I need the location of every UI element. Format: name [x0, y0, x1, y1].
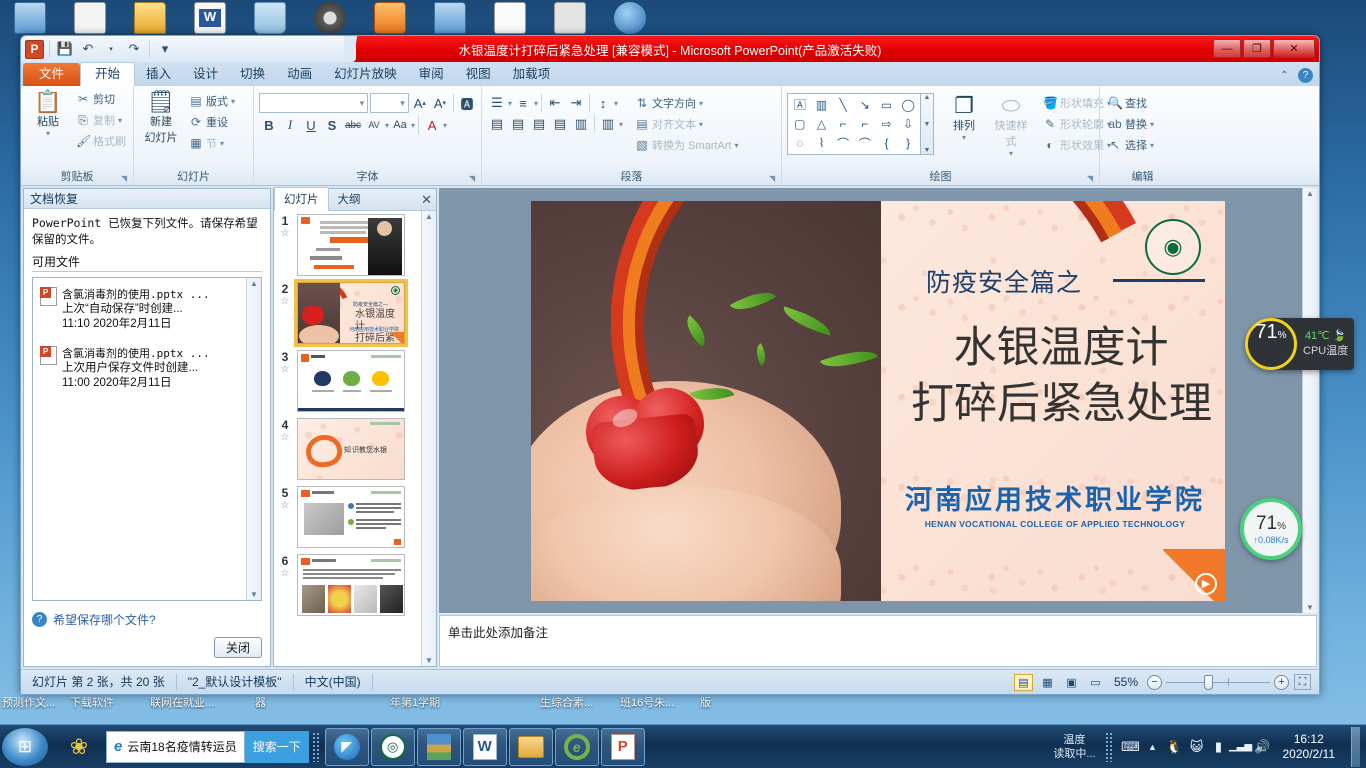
subtitle-rule — [1113, 279, 1205, 282]
scroll-down-icon[interactable]: ▼ — [425, 656, 433, 665]
zoom-out-button[interactable]: − — [1147, 675, 1162, 690]
slide-thumbnail[interactable] — [297, 554, 405, 616]
recovery-filename: 含氯消毒剂的使用.pptx — [62, 347, 183, 360]
zoom-slider[interactable]: − + — [1147, 675, 1289, 690]
tab-review[interactable]: 审阅 — [408, 63, 455, 86]
tab-design[interactable]: 设计 — [182, 63, 229, 86]
clock-date: 2020/2/11 — [1283, 747, 1336, 762]
scroll-down-icon[interactable]: ▼ — [1306, 603, 1314, 612]
tab-view[interactable]: 视图 — [455, 63, 502, 86]
group-label-slides: 幻灯片 — [134, 168, 253, 184]
title-bar: P 💾 ↶ ▾ ↷ ▾ 水银温度计打碎后紧急处理 [兼容模式] - Micros… — [21, 36, 1319, 62]
slides-pane: 幻灯片 大纲 ✕ 1☆ — [273, 188, 437, 667]
find-button[interactable]: 🔍查找 — [1105, 93, 1157, 113]
star-icon[interactable]: ☆ — [276, 432, 294, 443]
character-spacing-button[interactable]: AV — [364, 115, 384, 135]
recovery-description: 上次用户保存文件时创建... — [62, 361, 210, 376]
show-hidden-icons-icon[interactable]: ▲ — [1145, 739, 1161, 755]
scroll-up-icon[interactable]: ▲ — [425, 212, 433, 221]
tab-transitions[interactable]: 切换 — [229, 63, 276, 86]
overflow-ellipsis: ... — [190, 347, 210, 360]
tray-temp-label: 温度 — [1053, 733, 1095, 747]
paragraph-dialog-launcher-icon[interactable]: ◥ — [769, 174, 778, 183]
shape-right-brace-icon[interactable]: } — [897, 134, 919, 153]
chevron-down-icon[interactable]: ▾ — [508, 99, 512, 108]
slide-subtitle[interactable]: 防疫安全篇之 — [926, 263, 1082, 299]
desktop-icon-text-file[interactable] — [480, 0, 540, 40]
shape-arc-icon[interactable]: ⌒ — [854, 134, 876, 153]
increase-indent-icon[interactable]: ⇥ — [566, 93, 586, 113]
tray-temp-status: 读取中... — [1053, 747, 1095, 761]
slide-canvas[interactable]: 防疫安全篇之 水银温度计 打碎后紧急处理 ◉ 河南应用技术职业学院 HENAN … — [531, 201, 1225, 601]
align-center-icon[interactable]: ▤ — [508, 114, 528, 134]
font-name-input[interactable]: ▾ — [259, 93, 368, 113]
scissors-icon: ✂ — [76, 92, 90, 106]
tab-animations[interactable]: 动画 — [276, 63, 323, 86]
desktop-icon-media-player[interactable] — [600, 0, 660, 40]
status-theme[interactable]: "2_默认设计模板" — [177, 674, 294, 690]
group-label-drawing: 绘图 — [782, 168, 1099, 184]
desktop-icon-app-orange[interactable] — [360, 0, 420, 40]
italic-button[interactable]: I — [280, 115, 300, 135]
divider — [32, 271, 262, 272]
recovery-description: 上次“自动保存”时创建... — [62, 302, 210, 317]
cpu-monitor-widget[interactable]: 71% 41℃ 🍃 CPU温度 — [1245, 318, 1354, 370]
shape-left-brace-icon[interactable]: { — [876, 134, 898, 153]
justify-icon[interactable]: ▤ — [550, 114, 570, 134]
shape-ellipse-icon[interactable]: ◯ — [897, 95, 919, 114]
taskbar-grip[interactable] — [312, 732, 321, 762]
show-desktop-button[interactable] — [1351, 727, 1360, 767]
tab-outline[interactable]: 大纲 — [329, 188, 370, 210]
text-direction-button[interactable]: ⇅文字方向▾ — [632, 93, 741, 113]
pptx-file-icon — [40, 287, 57, 306]
recovery-timestamp: 11:10 2020年2月11日 — [62, 317, 210, 332]
chevron-down-icon[interactable]: ▾ — [699, 99, 703, 108]
recovery-pane-header: 文档恢复 — [24, 189, 270, 209]
recovery-question-text: 希望保存哪个文件? — [53, 611, 156, 628]
text-shadow-button[interactable]: S — [322, 115, 342, 135]
chevron-down-icon[interactable]: ▾ — [619, 120, 623, 129]
quick-styles-button[interactable]: ⬭ 快速样式 ▾ — [989, 93, 1033, 159]
ribbon-tab-bar: 文件 开始 插入 设计 切换 动画 幻灯片放映 审阅 视图 加载项 ⌃ ? — [21, 62, 1319, 86]
ie-search-button[interactable]: 搜索一下 — [245, 731, 309, 763]
slide-thumbnail[interactable] — [297, 214, 405, 276]
slide-thumbnail-selected[interactable]: 防疫安全篇之— 水银温度计打碎后紧急处理 ◉ 河南应用技术职业学院 — [297, 282, 405, 344]
group-slides: 🗒 新建 幻灯片 ▤版式▾ ⟳重设 ▦节▾ 幻灯片 — [133, 86, 253, 185]
slides-pane-tabs: 幻灯片 大纲 ✕ — [274, 189, 436, 211]
slide-title[interactable]: 水银温度计 打碎后紧急处理 — [911, 321, 1211, 433]
view-slideshow-button[interactable]: ▭ — [1086, 674, 1105, 691]
taskbar: ⊞ ❀ e 云南18名疫情转运员 搜索一下 ◤ ◎ W e P 温度 读取中..… — [0, 724, 1366, 768]
scroll-up-icon[interactable]: ▲ — [250, 279, 258, 288]
star-icon[interactable]: ☆ — [276, 568, 294, 579]
clock[interactable]: 16:12 2020/2/11 — [1277, 732, 1342, 762]
workspace: 文档恢复 PowerPoint 已恢复下列文件。请保存希望保留的文件。 可用文件… — [21, 186, 1319, 669]
desktop-icon-document[interactable] — [60, 0, 120, 40]
slides-pane-scrollbar[interactable]: ▲ ▼ — [421, 211, 436, 666]
select-button[interactable]: ↖选择▾ — [1105, 135, 1157, 155]
chevron-down-icon[interactable]: ▾ — [534, 99, 538, 108]
convert-smartart-button[interactable]: ▧转换为 SmartArt▾ — [632, 135, 741, 155]
scroll-down-icon[interactable]: ▼ — [250, 590, 258, 599]
qq-icon[interactable]: 🐧 — [1167, 739, 1183, 755]
scroll-down-icon[interactable]: ▼ — [924, 121, 931, 128]
desktop-label: 预测作文... — [2, 694, 55, 710]
network-monitor-widget[interactable]: 71% ↑0.08K/s — [1240, 498, 1302, 560]
layout-button[interactable]: ▤版式▾ — [186, 91, 238, 111]
shape-textbox-icon[interactable]: 🄰 — [789, 95, 811, 114]
group-label-clipboard: 剪贴板 — [21, 168, 133, 184]
star-icon[interactable]: ☆ — [276, 228, 294, 239]
new-slide-button[interactable]: 🗒 新建 幻灯片 — [139, 89, 183, 153]
numbering-icon[interactable]: ≡ — [513, 93, 533, 113]
taskbar-powerpoint[interactable]: P — [601, 728, 645, 766]
quick-styles-icon: ⬭ — [1002, 94, 1021, 117]
window-title: 水银温度计打碎后紧急处理 [兼容模式] - Microsoft PowerPoi… — [21, 40, 1319, 59]
star-icon[interactable]: ☆ — [276, 364, 294, 375]
list-item[interactable]: 4☆ 知 识教您水银 — [276, 418, 421, 480]
play-corner-badge[interactable]: ▶ — [1163, 549, 1225, 601]
shape-down-arrow-icon[interactable]: ⇩ — [897, 114, 919, 133]
recovery-file-list[interactable]: 含氯消毒剂的使用.pptx ... 上次“自动保存”时创建... 11:10 2… — [32, 277, 262, 601]
taskbar-media[interactable]: ◤ — [325, 728, 369, 766]
thumbnail-number: 1 — [276, 214, 294, 228]
group-paragraph: ☰▾ ≡▾ ⇤ ⇥ ↕▾ ▤ ▤ ▤ ▤ ▥ — [481, 86, 781, 185]
thumbnail-number: 5 — [276, 486, 294, 500]
list-item[interactable]: 2☆ 防疫安全篇之— 水银温度计打碎后紧急处理 ◉ 河南应用技术职业学院 — [276, 282, 421, 344]
clear-formatting-icon[interactable]: 🅰 — [458, 93, 476, 113]
copy-icon: ⎘ — [76, 113, 90, 128]
desktop-icon-computer[interactable] — [0, 0, 60, 40]
school-logo-icon: ◉ — [1145, 219, 1201, 275]
desktop-icon-word-doc[interactable]: W — [180, 0, 240, 40]
group-editing: 🔍查找 ab替换▾ ↖选择▾ 编辑 — [1099, 86, 1185, 185]
recovery-message: PowerPoint 已恢复下列文件。请保存希望保留的文件。 — [24, 209, 270, 249]
chevron-down-icon[interactable]: ▾ — [411, 121, 415, 130]
shrink-font-icon[interactable]: A▾ — [431, 93, 449, 113]
tab-slideshow[interactable]: 幻灯片放映 — [323, 63, 408, 86]
slide-thumbnail[interactable] — [297, 350, 405, 412]
smartart-icon: ▧ — [635, 138, 649, 152]
recovery-close-button[interactable]: 关闭 — [214, 637, 262, 658]
close-icon[interactable]: ✕ — [421, 192, 432, 208]
gallery-more-icon[interactable]: ▼ — [924, 147, 931, 154]
view-slide-sorter-button[interactable]: ▦ — [1038, 674, 1057, 691]
chevron-down-icon[interactable]: ▾ — [962, 133, 966, 142]
chevron-down-icon[interactable]: ▾ — [118, 116, 122, 125]
taskbar-school-app[interactable]: ◎ — [371, 728, 415, 766]
red-heart-object — [586, 388, 706, 496]
decrease-indent-icon[interactable]: ⇤ — [545, 93, 565, 113]
zoom-level: 55% — [1110, 675, 1142, 689]
desktop-label: 版 — [700, 694, 711, 710]
change-case-button[interactable]: Aa — [390, 115, 410, 135]
chevron-down-icon[interactable]: ▾ — [614, 99, 618, 108]
zoom-tick — [1228, 678, 1229, 686]
align-text-icon: ▤ — [635, 117, 649, 131]
tab-slides[interactable]: 幻灯片 — [274, 187, 329, 211]
pen-outline-icon: ✎ — [1043, 117, 1057, 131]
cpu-usage-value: 71 — [1255, 321, 1277, 344]
desktop-icon-labels: 预测作文... 下载软件 联网在就业... 器 年第1学期 生综合素... 班1… — [0, 694, 760, 716]
recovery-filename: 含氯消毒剂的使用.pptx — [62, 288, 183, 301]
slide-editing-area: 防疫安全篇之 水银温度计 打碎后紧急处理 ◉ 河南应用技术职业学院 HENAN … — [439, 188, 1317, 667]
taskbar-browser[interactable]: e — [555, 728, 599, 766]
desktop-label: 联网在就业... — [150, 694, 214, 710]
section-icon: ▦ — [189, 136, 203, 150]
chevron-down-icon[interactable]: ▾ — [1150, 141, 1154, 150]
slide-title-line2: 打碎后紧急处理 — [911, 377, 1211, 433]
star-icon[interactable]: ☆ — [276, 296, 294, 307]
cpu-temp-block: 41℃ 🍃 CPU温度 — [1297, 329, 1348, 359]
recovery-pane-footer: ? 希望保存哪个文件? 关闭 — [24, 606, 270, 666]
status-language[interactable]: 中文(中国) — [294, 674, 373, 690]
overflow-ellipsis: ... — [190, 288, 210, 301]
list-item[interactable]: 含氯消毒剂的使用.pptx ... 上次用户保存文件时创建... 11:00 2… — [37, 342, 242, 401]
arrange-icon: ❐ — [954, 94, 974, 117]
shape-rectangle-icon[interactable]: ▭ — [876, 95, 898, 114]
desktop-label: 班16号朱... — [620, 694, 674, 710]
desktop-label: 年第1学期 — [390, 694, 440, 710]
shape-triangle-icon[interactable]: △ — [811, 114, 833, 133]
slide-canvas-wrapper: 防疫安全篇之 水银温度计 打碎后紧急处理 ◉ 河南应用技术职业学院 HENAN … — [439, 188, 1317, 613]
ribbon: 📋 粘贴 ▾ ✂剪切 ⎘复制▾ 🖌格式刷 剪贴板 ◥ 🗒 新建 幻灯片 — [21, 86, 1319, 186]
reset-icon: ⟳ — [189, 115, 203, 129]
align-right-icon[interactable]: ▤ — [529, 114, 549, 134]
shape-right-arrow-icon[interactable]: ⇨ — [876, 114, 898, 133]
tab-insert[interactable]: 插入 — [135, 63, 182, 86]
group-clipboard: 📋 粘贴 ▾ ✂剪切 ⎘复制▾ 🖌格式刷 剪贴板 ◥ — [21, 86, 133, 185]
zoom-in-button[interactable]: + — [1274, 675, 1289, 690]
tab-addins[interactable]: 加载项 — [502, 63, 562, 86]
zoom-track[interactable] — [1166, 682, 1270, 683]
font-size-input[interactable]: ▾ — [370, 93, 409, 113]
play-icon[interactable]: ▶ — [1195, 573, 1217, 595]
align-text-button[interactable]: ▤对齐文本▾ — [632, 114, 741, 134]
ie-search-query: 云南18名疫情转运员 — [127, 738, 236, 755]
taskbar-winrar[interactable] — [417, 728, 461, 766]
status-slide-count: 幻灯片 第 2 张，共 20 张 — [21, 674, 177, 690]
pptx-file-icon — [40, 346, 57, 365]
shape-vertical-text-icon[interactable]: ▥ — [811, 95, 833, 114]
chevron-down-icon[interactable]: ▾ — [231, 97, 235, 106]
desktop-icon-folder-blue[interactable] — [420, 0, 480, 40]
shape-elbow-connector-icon[interactable]: ⌐ — [832, 114, 854, 133]
star-icon[interactable]: ☆ — [276, 500, 294, 511]
cpu-usage-ring: 71% — [1245, 318, 1297, 370]
cpu-usage-percent: % — [1278, 330, 1287, 341]
net-usage-percent: % — [1277, 521, 1286, 532]
drawing-dialog-launcher-icon[interactable]: ◥ — [1087, 174, 1096, 183]
thumbnail-list: 1☆ — [274, 211, 421, 666]
chevron-down-icon[interactable]: ▾ — [1009, 149, 1013, 158]
shape-arrow-icon[interactable]: ↘ — [854, 95, 876, 114]
school-name-block: 河南应用技术职业学院 HENAN VOCATIONAL COLLEGE OF A… — [905, 478, 1205, 529]
chevron-down-icon[interactable]: ▾ — [734, 141, 738, 150]
notes-placeholder[interactable]: 单击此处添加备注 — [439, 615, 1317, 667]
replace-button[interactable]: ab替换▾ — [1105, 114, 1157, 134]
text-direction-icon: ⇅ — [635, 96, 649, 110]
restore-button[interactable]: ❐ — [1243, 39, 1271, 58]
leaf-icon: 🍃 — [1333, 330, 1347, 342]
effects-icon: ◐ — [1043, 138, 1057, 152]
chevron-down-icon[interactable]: ▾ — [699, 120, 703, 129]
ie-search-input[interactable]: e 云南18名疫情转运员 — [106, 731, 245, 763]
window-controls: — ❐ ✕ — [1213, 39, 1315, 58]
layout-icon: ▤ — [189, 94, 203, 108]
replace-icon: ab — [1108, 117, 1122, 131]
thumbnail-number: 4 — [276, 418, 294, 432]
view-reading-button[interactable]: ▣ — [1062, 674, 1081, 691]
arrange-button[interactable]: ❐ 排列 ▾ — [942, 93, 986, 143]
collapse-ribbon-icon[interactable]: ⌃ — [1277, 68, 1292, 83]
battery-icon[interactable]: ▮ — [1211, 739, 1227, 755]
format-painter-button[interactable]: 🖌格式刷 — [73, 131, 129, 151]
new-slide-icon: 🗒 — [147, 90, 175, 113]
bold-button[interactable]: B — [259, 115, 279, 135]
desktop-icon-folder-yellow[interactable] — [120, 0, 180, 40]
network-icon[interactable]: ▁▃▅ — [1233, 739, 1249, 755]
chevron-down-icon[interactable]: ▾ — [1150, 120, 1154, 129]
school-name-cn: 河南应用技术职业学院 — [905, 478, 1205, 517]
scroll-up-icon[interactable]: ▲ — [1306, 189, 1314, 198]
font-dialog-launcher-icon[interactable]: ◥ — [469, 174, 478, 183]
shapes-gallery[interactable]: 🄰 ▥ ╲ ↘ ▭ ◯ ▢ △ ⌐ ⌐ ⇨ ⇩ ◌ ⌇ ⌒ — [787, 93, 921, 155]
shape-cloud-icon[interactable]: ◌ — [789, 134, 811, 153]
slide-scrollbar[interactable]: ▲ ▼ — [1302, 188, 1317, 613]
grow-font-icon[interactable]: A▴ — [411, 93, 429, 113]
start-button[interactable]: ⊞ — [2, 728, 48, 766]
shape-line-icon[interactable]: ╲ — [832, 95, 854, 114]
list-item[interactable]: 5☆ — [276, 486, 421, 548]
taskbar-pinned-colors-icon[interactable]: ❀ — [57, 728, 101, 766]
paste-label: 粘贴 — [37, 113, 59, 129]
cpu-temp-label: CPU温度 — [1303, 344, 1348, 359]
ie-search-toolbar[interactable]: e 云南18名疫情转运员 搜索一下 — [106, 731, 309, 763]
scroll-up-icon[interactable]: ▲ — [924, 94, 931, 101]
zoom-thumb[interactable] — [1204, 675, 1213, 690]
recovery-question: ? 希望保存哪个文件? — [32, 611, 262, 628]
line-spacing-icon[interactable]: ↕ — [593, 93, 613, 113]
recovery-timestamp: 11:00 2020年2月11日 — [62, 376, 210, 391]
brush-icon: 🖌 — [76, 134, 90, 148]
help-icon: ? — [32, 612, 47, 627]
clock-time: 16:12 — [1283, 732, 1336, 747]
section-button[interactable]: ▦节▾ — [186, 133, 238, 153]
clipboard-dialog-launcher-icon[interactable]: ◥ — [121, 174, 130, 183]
thumbnail-number: 6 — [276, 554, 294, 568]
desktop-label: 下载软件 — [70, 694, 114, 710]
cursor-icon: ↖ — [1108, 138, 1122, 152]
cpu-temp-value: 41℃ — [1305, 330, 1330, 342]
font-color-button[interactable]: A — [422, 115, 442, 135]
strikethrough-button[interactable]: abc — [343, 115, 363, 135]
list-item[interactable]: 6☆ — [276, 554, 421, 616]
slide-title-line1: 水银温度计 — [911, 321, 1211, 377]
distribute-icon[interactable]: ▥ — [571, 114, 591, 134]
bullets-icon[interactable]: ☰ — [487, 93, 507, 113]
thumbnail-number: 3 — [276, 350, 294, 364]
desktop-icon-disc[interactable] — [300, 0, 360, 40]
keyboard-icon[interactable]: ⌨ — [1123, 739, 1139, 755]
list-item[interactable]: 3☆ — [276, 350, 421, 412]
binoculars-icon: 🔍 — [1108, 96, 1122, 110]
tray-grip[interactable] — [1105, 732, 1114, 762]
fit-to-window-button[interactable]: ⛶ — [1294, 674, 1311, 690]
school-name-en: HENAN VOCATIONAL COLLEGE OF APPLIED TECH… — [905, 519, 1205, 529]
document-recovery-pane: 文档恢复 PowerPoint 已恢复下列文件。请保存希望保留的文件。 可用文件… — [23, 188, 271, 667]
cat-icon[interactable]: 😺 — [1189, 739, 1205, 755]
group-drawing: 🄰 ▥ ╲ ↘ ▭ ◯ ▢ △ ⌐ ⌐ ⇨ ⇩ ◌ ⌇ ⌒ — [781, 86, 1099, 185]
shape-curve-icon[interactable]: ⌒ — [832, 134, 854, 153]
close-button[interactable]: ✕ — [1273, 39, 1315, 58]
chevron-down-icon[interactable]: ▾ — [46, 129, 50, 138]
slide-thumbnail[interactable]: 知 识教您水银 — [297, 418, 405, 480]
net-speed-value: ↑0.08K/s — [1253, 535, 1288, 545]
desktop-icon-spreadsheet[interactable] — [540, 0, 600, 40]
shapes-gallery-scroll[interactable]: ▲ ▼ ▼ — [921, 93, 934, 155]
underline-button[interactable]: U — [301, 115, 321, 135]
chevron-down-icon[interactable]: ▾ — [443, 121, 447, 130]
chevron-down-icon[interactable]: ▾ — [220, 139, 224, 148]
desktop-label: 生综合素... — [540, 694, 593, 710]
group-font: ▾ ▾ A▴ A▾ 🅰 B I U S abc AV ▾ Aa ▾ — [253, 86, 481, 185]
cut-button[interactable]: ✂剪切 — [73, 89, 129, 109]
help-icon[interactable]: ? — [1298, 68, 1313, 83]
tab-home[interactable]: 开始 — [80, 62, 135, 86]
net-usage-value: 71 — [1256, 513, 1277, 535]
group-label-font: 字体 — [254, 168, 481, 184]
volume-icon[interactable]: 🔊 — [1255, 739, 1271, 755]
tray-temperature-widget[interactable]: 温度 读取中... — [1053, 733, 1095, 761]
columns-icon[interactable]: ▥ — [598, 114, 618, 134]
paste-button[interactable]: 📋 粘贴 ▾ — [26, 89, 70, 151]
group-label-paragraph: 段落 — [482, 168, 781, 184]
recovery-list-scrollbar[interactable]: ▲ ▼ — [246, 278, 261, 600]
status-right-controls: ▤ ▦ ▣ ▭ 55% − + ⛶ — [1014, 674, 1319, 691]
ribbon-help-controls: ⌃ ? — [1277, 68, 1313, 83]
powerpoint-window: P 💾 ↶ ▾ ↷ ▾ 水银温度计打碎后紧急处理 [兼容模式] - Micros… — [20, 35, 1320, 695]
chevron-down-icon[interactable]: ▾ — [385, 121, 389, 130]
system-tray: 温度 读取中... ⌨ ▲ 🐧 😺 ▮ ▁▃▅ 🔊 16:12 2020/2/1… — [1053, 727, 1366, 767]
paint-bucket-icon: 🪣 — [1043, 96, 1057, 110]
slide-thumbnail[interactable] — [297, 486, 405, 548]
align-left-icon[interactable]: ▤ — [487, 114, 507, 134]
shape-elbow-arrow-icon[interactable]: ⌐ — [854, 114, 876, 133]
desktop-label: 器 — [255, 694, 266, 710]
thumbnail-number: 2 — [276, 282, 294, 296]
minimize-button[interactable]: — — [1213, 39, 1241, 58]
group-label-editing: 编辑 — [1100, 168, 1185, 184]
taskbar-explorer[interactable] — [509, 728, 553, 766]
desktop-icon-recycle-bin[interactable] — [240, 0, 300, 40]
tab-file[interactable]: 文件 — [23, 63, 80, 86]
shape-rounded-rect-icon[interactable]: ▢ — [789, 114, 811, 133]
status-bar: 幻灯片 第 2 张，共 20 张 "2_默认设计模板" 中文(中国) ▤ ▦ ▣… — [21, 669, 1319, 694]
ie-icon: e — [114, 738, 122, 755]
available-files-label: 可用文件 — [32, 253, 262, 270]
shape-scribble-icon[interactable]: ⌇ — [811, 134, 833, 153]
view-normal-button[interactable]: ▤ — [1014, 674, 1033, 691]
taskbar-word[interactable]: W — [463, 728, 507, 766]
paste-icon: 📋 — [34, 90, 61, 113]
list-item[interactable]: 含氯消毒剂的使用.pptx ... 上次“自动保存”时创建... 11:10 2… — [37, 283, 242, 342]
copy-button[interactable]: ⎘复制▾ — [73, 110, 129, 130]
desktop-icons: W — [0, 0, 840, 40]
reset-button[interactable]: ⟳重设 — [186, 112, 238, 132]
list-item[interactable]: 1☆ — [276, 214, 421, 276]
